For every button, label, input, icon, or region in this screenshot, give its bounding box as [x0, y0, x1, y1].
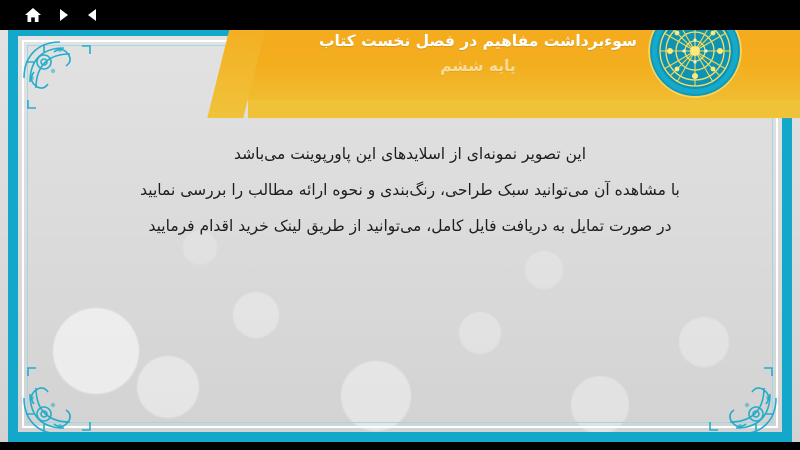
slide-body-line-1: این تصویر نمونه‌ای از اسلایدهای این پاور… [60, 136, 760, 172]
slide-title-line-3: پایه ششم [268, 54, 688, 79]
viewer-bottom-bar [0, 442, 800, 450]
slide-body-line-3: در صورت تمایل به دریافت فایل کامل، می‌تو… [60, 208, 760, 244]
viewer-toolbar [0, 0, 800, 30]
slide-title-line-2: سوءبرداشت مفاهیم در فصل نخست کتاب [268, 29, 688, 54]
triangle-right-icon [55, 7, 71, 23]
previous-slide-button[interactable] [82, 4, 104, 26]
triangle-left-icon [85, 7, 101, 23]
slide-body: این تصویر نمونه‌ای از اسلایدهای این پاور… [60, 136, 760, 244]
slide-canvas: بررسی جایگاه آموزش ریاضی و تحلیل عوامل س… [0, 0, 800, 450]
home-button[interactable] [22, 4, 44, 26]
home-icon [24, 6, 42, 24]
navigation-buttons [0, 0, 104, 30]
slide-body-line-2: با مشاهده آن می‌توانید سبک طراحی، رنگ‌بن… [60, 172, 760, 208]
next-slide-button[interactable] [52, 4, 74, 26]
presentation-viewer: بررسی جایگاه آموزش ریاضی و تحلیل عوامل س… [0, 0, 800, 450]
